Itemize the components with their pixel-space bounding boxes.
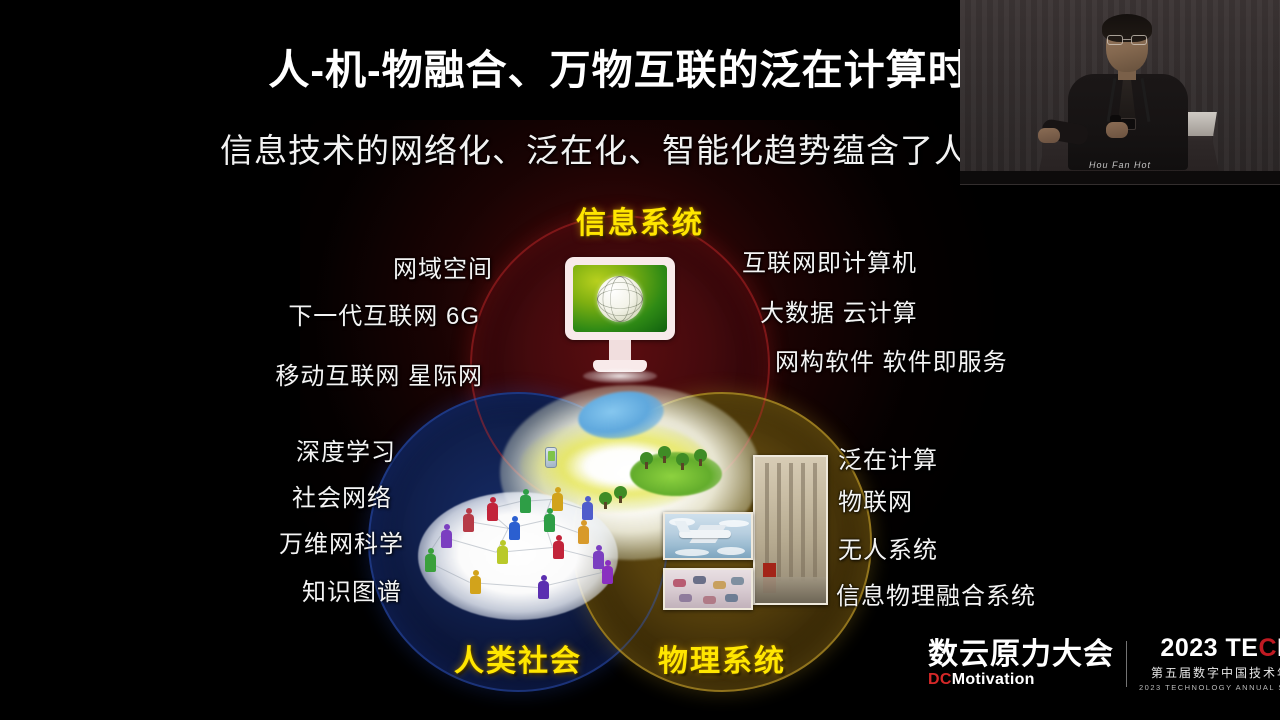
logo-brand-en: DCMotivation bbox=[928, 671, 1114, 689]
speaker-caption: Hou Fan Hot bbox=[960, 160, 1280, 170]
logo-summit-en: 2023 TECHNOLOGY ANNUAL SUMMIT bbox=[1139, 683, 1280, 692]
monitor-screen bbox=[573, 265, 667, 332]
monitor-glow bbox=[583, 369, 657, 383]
monitor-globe-icon bbox=[565, 257, 675, 379]
annotation-info-right-2: 大数据 云计算 bbox=[760, 293, 918, 328]
venn-label-physical-system: 物理系统 bbox=[572, 636, 872, 680]
person-figure-icon bbox=[544, 508, 555, 532]
annotation-info-left-3: 移动互联网 星际网 bbox=[275, 356, 483, 391]
person-figure-icon bbox=[487, 497, 498, 521]
person-figure-icon bbox=[497, 540, 508, 564]
eyeglasses-icon bbox=[1107, 35, 1147, 45]
logo-divider bbox=[1126, 641, 1127, 687]
annotation-physical-1: 泛在计算 bbox=[838, 440, 938, 475]
presentation-slide: 人-机-物融合、万物互联的泛在计算时代 信息技术的网络化、泛在化、智能化趋势蕴含… bbox=[0, 0, 1280, 720]
globe-icon bbox=[597, 276, 643, 322]
person-figure-icon bbox=[602, 560, 613, 584]
person-figure-icon bbox=[509, 516, 520, 540]
person-figure-icon bbox=[470, 570, 481, 594]
logo-brand-en-prefix: DC bbox=[928, 671, 952, 688]
logo-year-pre: 2023 TE bbox=[1160, 634, 1258, 662]
speaker-hand-left bbox=[1038, 128, 1060, 143]
venn-label-information-system: 信息系统 bbox=[0, 198, 1280, 242]
monitor-frame bbox=[565, 257, 675, 340]
person-figure-icon bbox=[578, 520, 589, 544]
logo-brand: 数云原力大会 DCMotivation bbox=[928, 639, 1114, 690]
aircraft-photo-panel bbox=[663, 512, 753, 560]
annotation-info-left-1: 网域空间 bbox=[393, 249, 493, 284]
person-figure-icon bbox=[463, 508, 474, 532]
annotation-human-2: 社会网络 bbox=[292, 478, 392, 513]
logo-year: 2023 TECH bbox=[1160, 636, 1280, 661]
speaker-video-overlay[interactable]: Hou Fan Hot bbox=[960, 0, 1280, 185]
person-figure-icon bbox=[538, 575, 549, 599]
annotation-physical-2: 物联网 bbox=[838, 482, 913, 517]
annotation-human-3: 万维网科学 bbox=[279, 524, 404, 559]
speaker-hand-right bbox=[1106, 122, 1128, 138]
annotation-physical-3: 无人系统 bbox=[838, 530, 938, 565]
annotation-human-1: 深度学习 bbox=[296, 432, 396, 467]
annotation-human-4: 知识图谱 bbox=[302, 572, 402, 607]
annotation-info-right-3: 网构软件 软件即服务 bbox=[775, 342, 1008, 377]
person-figure-icon bbox=[441, 524, 452, 548]
annotation-physical-4: 信息物理融合系统 bbox=[836, 576, 1036, 611]
person-figure-icon bbox=[582, 496, 593, 520]
logo-brand-en-suffix: Motivation bbox=[952, 671, 1035, 688]
logo-summit: 2023 TECH 第五届数字中国技术年会 2023 TECHNOLOGY AN… bbox=[1139, 636, 1280, 692]
skyscraper-photo-panel bbox=[753, 455, 828, 605]
annotation-info-right-1: 互联网即计算机 bbox=[742, 243, 917, 278]
mobile-phone-icon bbox=[545, 447, 557, 468]
monitor-stand bbox=[609, 340, 631, 362]
logo-year-spark: C bbox=[1258, 634, 1277, 662]
person-figure-icon bbox=[520, 489, 531, 513]
traffic-photo-panel bbox=[663, 568, 753, 610]
person-figure-icon bbox=[553, 535, 564, 559]
conference-logo: 数云原力大会 DCMotivation 2023 TECH 第五届数字中国技术年… bbox=[928, 636, 1280, 692]
annotation-info-left-2: 下一代互联网 6G bbox=[288, 296, 480, 331]
laptop-icon bbox=[1183, 112, 1217, 136]
logo-summit-cn: 第五届数字中国技术年会 bbox=[1151, 664, 1280, 681]
logo-brand-cn: 数云原力大会 bbox=[928, 639, 1114, 671]
person-figure-icon bbox=[425, 548, 436, 572]
overlay-bottom-bar bbox=[960, 171, 1280, 184]
